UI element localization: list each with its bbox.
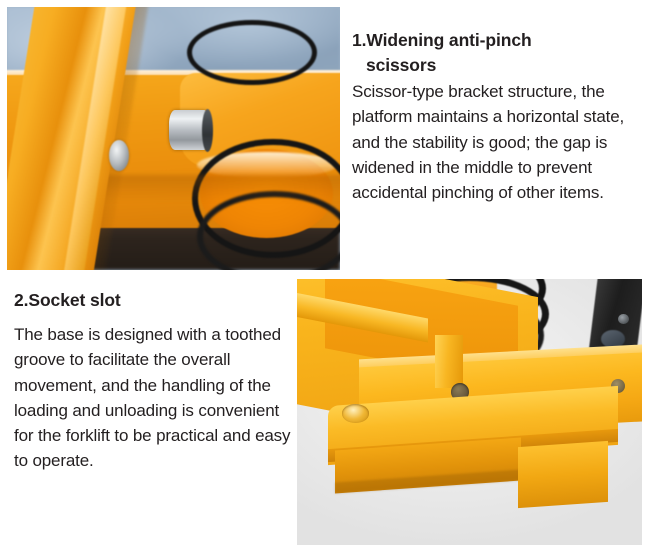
- product-feature-page: 1.Widening anti-pinch scissors Scissor-t…: [0, 0, 650, 545]
- post-bolt: [618, 314, 629, 325]
- feature-2-text-block: 2.Socket slot The base is designed with …: [14, 288, 302, 474]
- feature-2-heading-line-1: 2.Socket slot: [14, 290, 121, 310]
- feature-1-heading-line-1: 1.Widening anti-pinch: [352, 30, 532, 50]
- scissor-hinge-closeup-photo: [7, 7, 340, 270]
- feature-2-heading: 2.Socket slot: [14, 288, 302, 313]
- groove-tooth-primary: [435, 335, 463, 388]
- socket-slot-base-photo: [297, 279, 642, 545]
- steel-hinge-pin-cap: [202, 109, 213, 152]
- feature-1-text-block: 1.Widening anti-pinch scissors Scissor-t…: [352, 28, 644, 205]
- black-hose-ring-upper: [187, 20, 317, 85]
- fork-plate-eye-hole: [342, 404, 370, 423]
- feature-1-body: Scissor-type bracket structure, the plat…: [352, 79, 644, 205]
- feature-1-heading-line-2: scissors: [352, 53, 644, 78]
- feature-2-body: The base is designed with a toothed groo…: [14, 322, 302, 474]
- feature-1-heading: 1.Widening anti-pinch scissors: [352, 28, 644, 78]
- toothed-groove-flange-right: [518, 441, 608, 508]
